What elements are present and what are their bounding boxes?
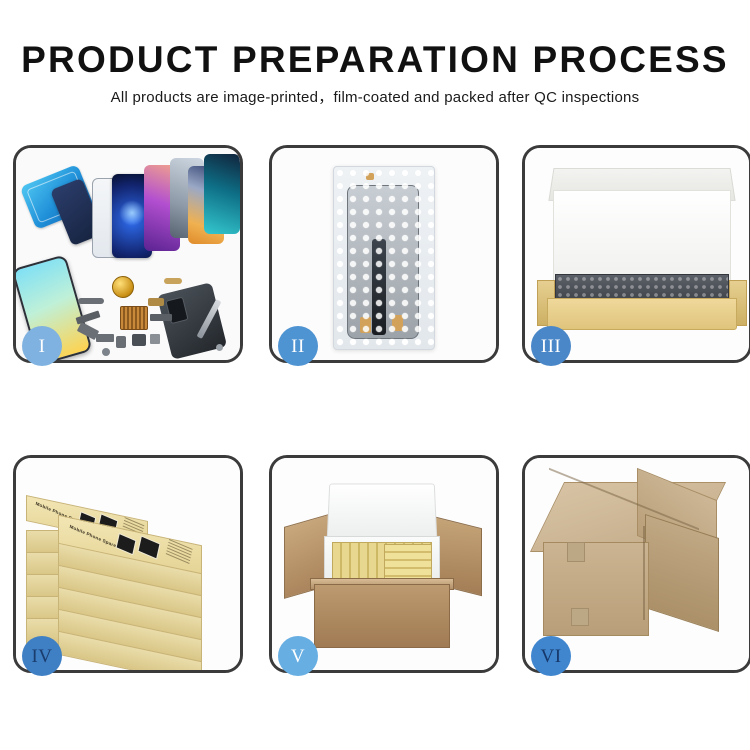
part-block-2: [132, 334, 146, 346]
process-step-grid: I II: [0, 0, 750, 750]
step-badge-5: V: [278, 636, 318, 676]
carton-front-face: [543, 542, 649, 636]
box-stack: Mobile Phone Spare Parts Mobile Phone Sp…: [22, 472, 236, 662]
product-preparation-infographic: PRODUCT PREPARATION PROCESS All products…: [0, 0, 750, 750]
part-strip-1: [78, 298, 104, 304]
part-block-3: [150, 334, 160, 344]
carton-tape-upper: [567, 542, 585, 562]
bubble-wrap-bag: [333, 166, 435, 350]
step-badge-4: IV: [22, 636, 62, 676]
carton-tape-lower: [571, 608, 589, 626]
step-badge-6: VI: [531, 636, 571, 676]
phone-teal: [204, 154, 240, 234]
gold-tab-top: [366, 173, 374, 180]
carton-corner-edge: [643, 526, 645, 620]
step-badge-2: II: [278, 326, 318, 366]
styrofoam-lid: [327, 484, 438, 540]
step-badge-3: III: [531, 326, 571, 366]
logic-board-chip: [120, 306, 148, 330]
part-flex-cable: [150, 314, 172, 321]
gold-connector-right: [392, 315, 403, 331]
lid-text-lines-b: [165, 539, 192, 566]
step-card-3: III: [522, 145, 750, 363]
white-foam-sheet: [553, 190, 731, 284]
speaker-part-icon: [112, 276, 134, 298]
part-screw-2: [216, 344, 223, 351]
step-card-2: II: [269, 145, 499, 363]
gold-connector-left: [360, 317, 371, 333]
kraft-box-front: [547, 298, 737, 330]
part-strip-3: [96, 334, 114, 342]
part-connector-gold: [148, 298, 164, 306]
lid-window-b2: [137, 535, 160, 559]
step-card-4: Mobile Phone Spare Parts Mobile Phone Sp…: [13, 455, 243, 673]
screen-flex-cable: [372, 239, 386, 335]
step-card-1: I: [13, 145, 243, 363]
carton-front-panel: [314, 584, 450, 648]
part-screw: [102, 348, 110, 356]
part-bracket: [164, 278, 182, 284]
step-badge-1: I: [22, 326, 62, 366]
part-block-1: [116, 336, 126, 348]
step-card-5: V: [269, 455, 499, 673]
step-card-6: VI: [522, 455, 750, 673]
lid-window-b1: [116, 533, 137, 555]
